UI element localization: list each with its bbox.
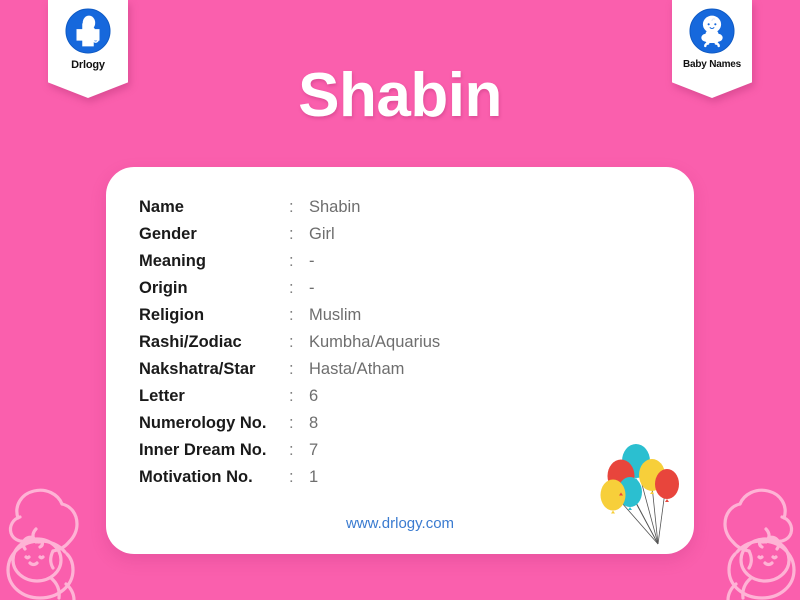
- doctor-medical-cross-icon: [65, 8, 111, 54]
- table-row: Inner Dream No.:7: [139, 437, 440, 464]
- page-title: Shabin: [0, 60, 800, 131]
- detail-separator: :: [289, 437, 309, 464]
- detail-label: Numerology No.: [139, 410, 289, 437]
- table-row: Name:Shabin: [139, 194, 440, 221]
- detail-value: -: [309, 275, 440, 302]
- detail-value: Shabin: [309, 194, 440, 221]
- detail-separator: :: [289, 356, 309, 383]
- detail-label: Nakshatra/Star: [139, 356, 289, 383]
- detail-separator: :: [289, 194, 309, 221]
- detail-label: Rashi/Zodiac: [139, 329, 289, 356]
- table-row: Religion:Muslim: [139, 302, 440, 329]
- detail-separator: :: [289, 329, 309, 356]
- detail-separator: :: [289, 248, 309, 275]
- mother-and-baby-outline-icon-right: [694, 474, 800, 600]
- detail-separator: :: [289, 383, 309, 410]
- detail-separator: :: [289, 464, 309, 491]
- detail-label: Letter: [139, 383, 289, 410]
- table-row: Motivation No.:1: [139, 464, 440, 491]
- detail-label: Religion: [139, 302, 289, 329]
- table-row: Letter:6: [139, 383, 440, 410]
- detail-separator: :: [289, 275, 309, 302]
- balloons-icon: [596, 436, 688, 554]
- website-link[interactable]: www.drlogy.com: [106, 515, 694, 532]
- detail-separator: :: [289, 221, 309, 248]
- detail-label: Name: [139, 194, 289, 221]
- baby-icon: [689, 8, 735, 54]
- mother-and-baby-outline-icon-left: [0, 474, 108, 600]
- detail-value: 7: [309, 437, 440, 464]
- detail-value: -: [309, 248, 440, 275]
- detail-value: 1: [309, 464, 440, 491]
- table-row: Meaning:-: [139, 248, 440, 275]
- detail-separator: :: [289, 302, 309, 329]
- detail-label: Meaning: [139, 248, 289, 275]
- detail-value: 6: [309, 383, 440, 410]
- table-row: Nakshatra/Star:Hasta/Atham: [139, 356, 440, 383]
- detail-label: Gender: [139, 221, 289, 248]
- detail-label: Motivation No.: [139, 464, 289, 491]
- name-details-table-body: Name:ShabinGender:GirlMeaning:-Origin:-R…: [139, 194, 440, 491]
- detail-value: Muslim: [309, 302, 440, 329]
- table-row: Origin:-: [139, 275, 440, 302]
- detail-label: Inner Dream No.: [139, 437, 289, 464]
- detail-label: Origin: [139, 275, 289, 302]
- table-row: Gender:Girl: [139, 221, 440, 248]
- detail-value: Hasta/Atham: [309, 356, 440, 383]
- detail-value: Kumbha/Aquarius: [309, 329, 440, 356]
- detail-value: Girl: [309, 221, 440, 248]
- detail-value: 8: [309, 410, 440, 437]
- name-details-table: Name:ShabinGender:GirlMeaning:-Origin:-R…: [139, 194, 440, 491]
- table-row: Rashi/Zodiac:Kumbha/Aquarius: [139, 329, 440, 356]
- name-details-card: Name:ShabinGender:GirlMeaning:-Origin:-R…: [106, 167, 694, 554]
- table-row: Numerology No.:8: [139, 410, 440, 437]
- detail-separator: :: [289, 410, 309, 437]
